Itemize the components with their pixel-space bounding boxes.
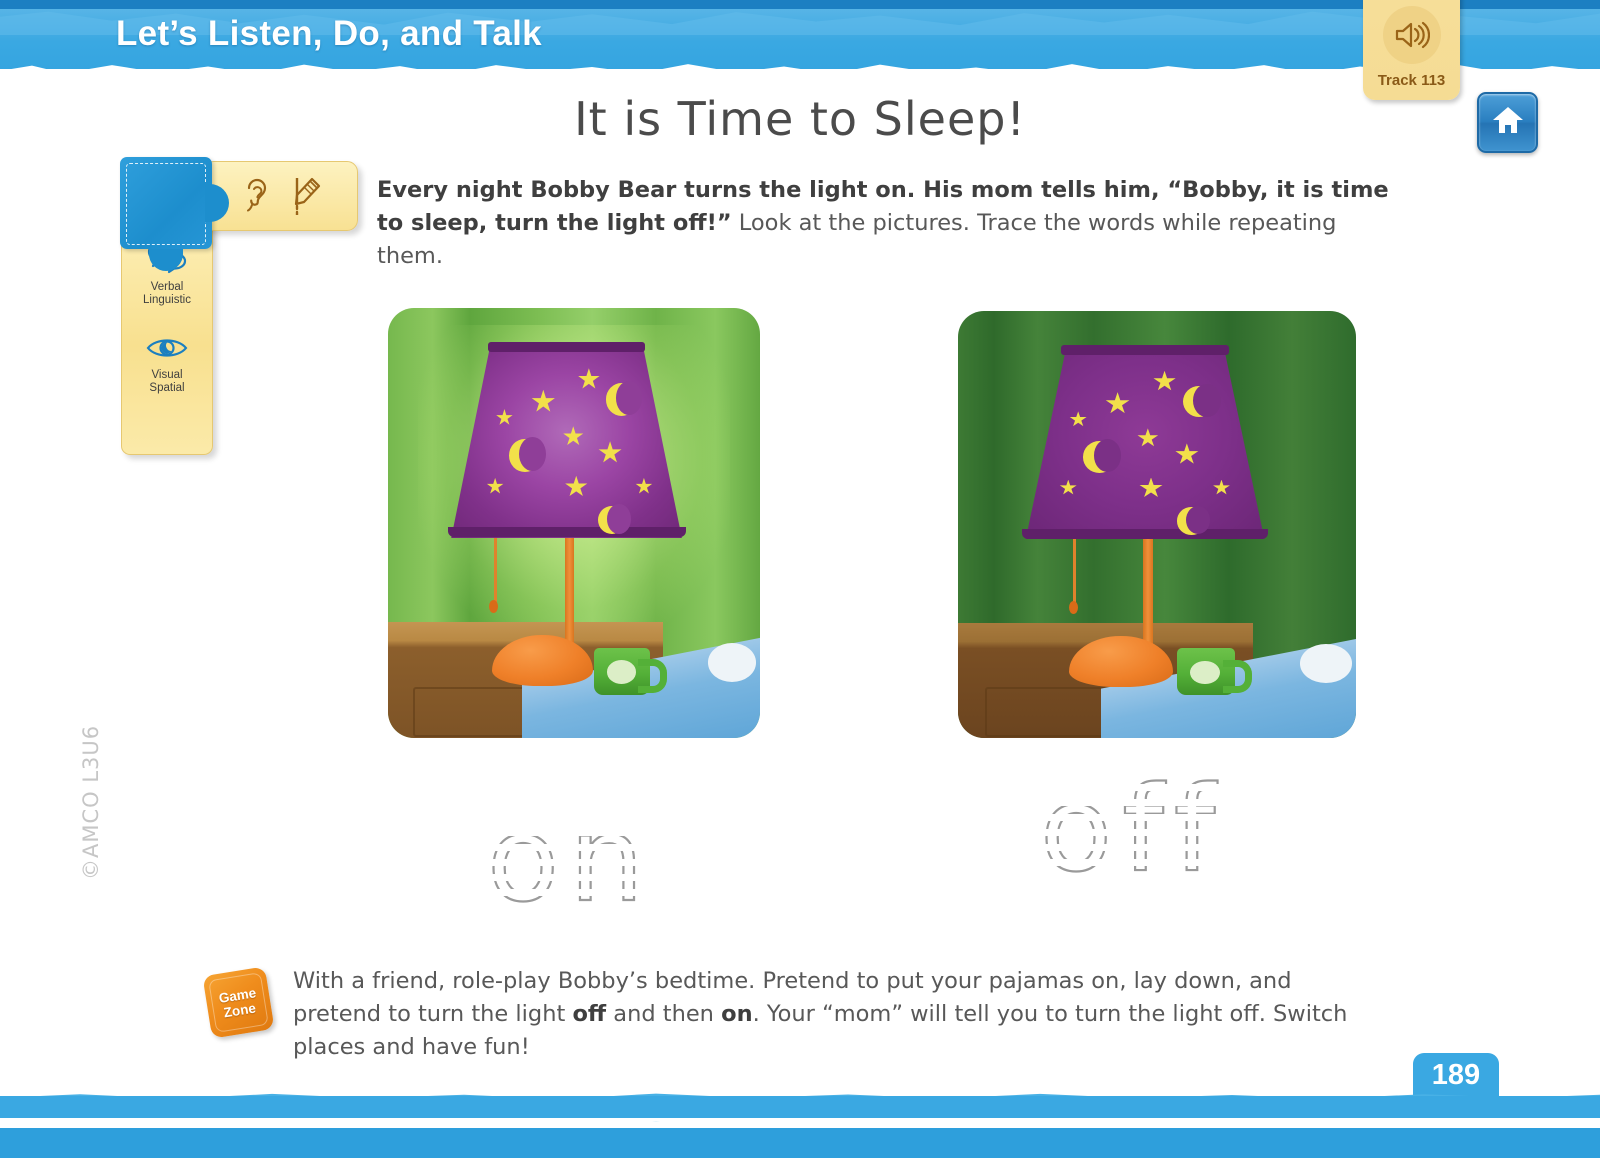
mug-highlight	[607, 660, 636, 684]
pillow	[1300, 644, 1352, 682]
game-zone-badge: Game Zone	[202, 966, 274, 1038]
shade-top-trim	[488, 342, 644, 352]
game-text-bold-on: on	[721, 1001, 752, 1027]
speaker-icon	[1383, 6, 1441, 64]
puzzle-piece-decoration	[120, 157, 212, 249]
audio-track-button[interactable]: Track 113	[1363, 0, 1460, 100]
instruction-text: Every night Bobby Bear turns the light o…	[377, 174, 1392, 273]
skill-label-line1: Verbal	[122, 281, 212, 294]
game-zone-line1: Game	[218, 985, 257, 1006]
shade-moon	[606, 383, 638, 416]
lamp-shade	[451, 345, 682, 539]
shade-bottom-trim	[448, 527, 686, 537]
game-zone-line2: Zone	[223, 1000, 257, 1020]
skill-label-line2: Linguistic	[122, 294, 212, 307]
lamp-off-picture[interactable]	[958, 311, 1356, 738]
shade-top-trim	[1061, 345, 1228, 355]
pull-knob	[1069, 601, 1078, 614]
skill-visual-spatial: Visual Spatial	[122, 334, 212, 395]
shade-moon	[1083, 441, 1116, 473]
skill-label-line1: Visual	[122, 369, 212, 382]
green-mug	[594, 648, 650, 695]
pillow	[708, 643, 756, 682]
copyright-label: ©AMCO L3U6	[79, 725, 103, 880]
shade-moon	[598, 506, 626, 534]
trace-word-on[interactable]: on	[487, 800, 654, 918]
trace-word-off[interactable]: off	[1040, 770, 1225, 888]
footer-bottom-strip	[0, 1128, 1600, 1158]
shade-moon	[509, 439, 541, 472]
mug-highlight	[1190, 661, 1220, 684]
pencil-icon	[288, 173, 322, 220]
page-number: 189	[1413, 1053, 1499, 1097]
green-mug	[1177, 648, 1235, 695]
game-text-part2: and then	[606, 1001, 721, 1027]
shade-bottom-trim	[1022, 529, 1269, 539]
skill-label-line2: Spatial	[122, 382, 212, 395]
eye-icon	[145, 349, 189, 366]
track-label: Track 113	[1363, 72, 1460, 89]
ear-icon	[240, 175, 272, 218]
shade-moon	[1177, 507, 1206, 534]
game-zone-text: With a friend, role-play Bobby’s bedtime…	[293, 965, 1373, 1064]
game-text-bold-off: off	[572, 1001, 606, 1027]
page-title: It is Time to Sleep!	[0, 92, 1600, 146]
header-title: Let’s Listen, Do, and Talk	[116, 14, 542, 54]
shade-moon	[1183, 386, 1216, 418]
header-top-strip	[0, 0, 1600, 9]
lamp-on-picture[interactable]	[388, 308, 760, 738]
